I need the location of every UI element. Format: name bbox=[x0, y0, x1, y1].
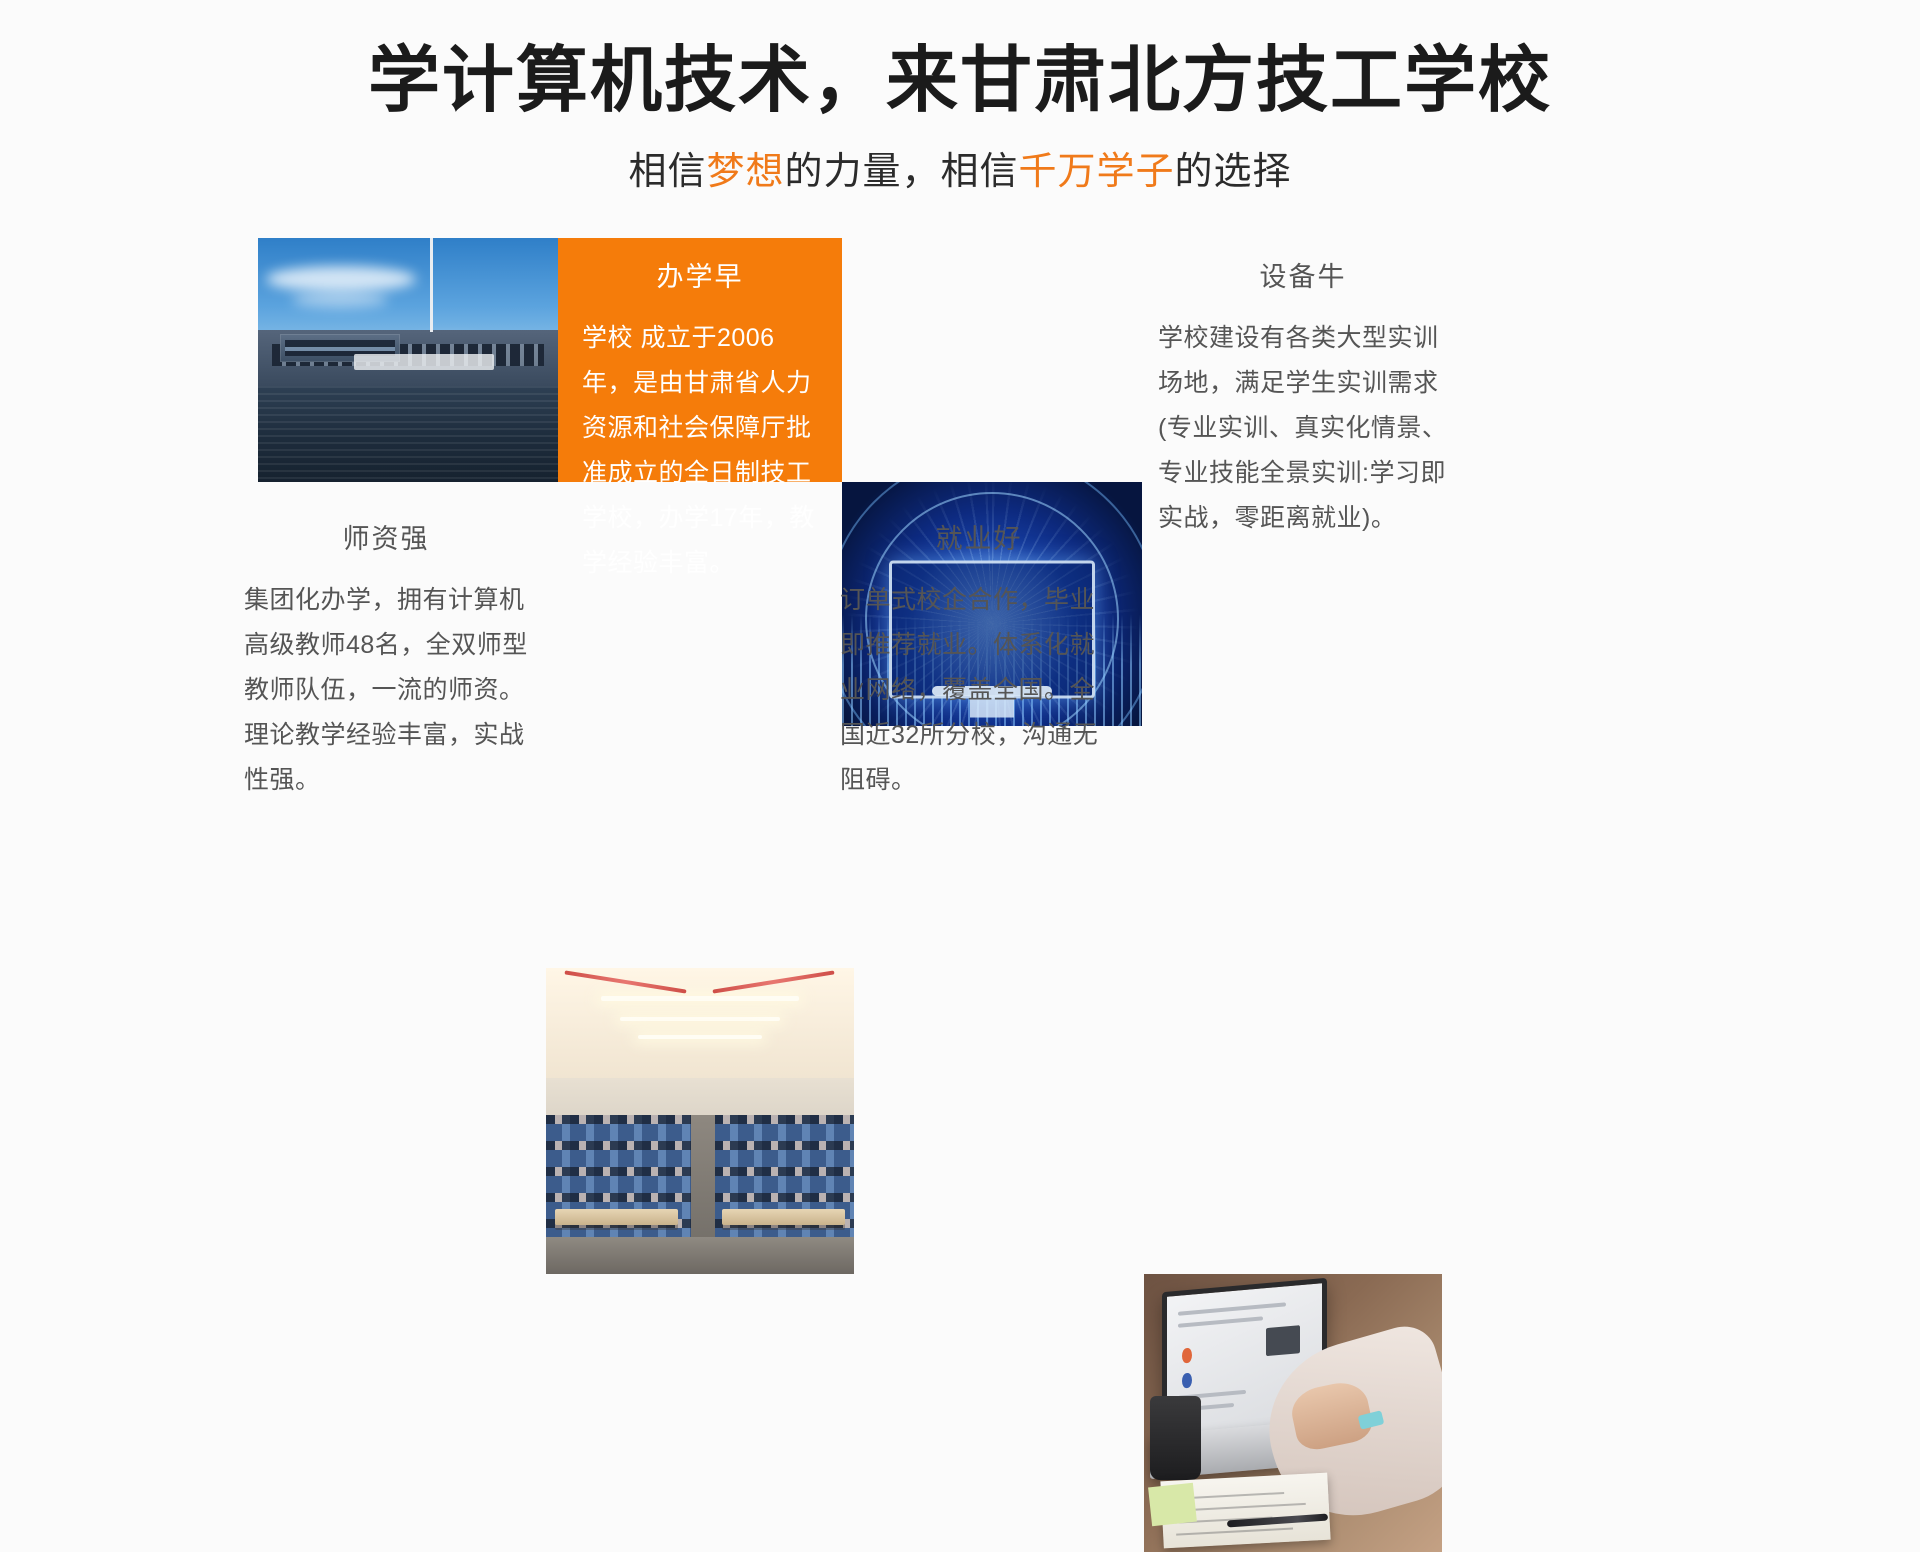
cell-heading-early: 办学早 bbox=[582, 260, 818, 294]
page-title: 学计算机技术，来甘肃北方技工学校 bbox=[0, 38, 1920, 124]
cell-body-early: 学校 成立于2006年，是由甘肃省人力资源和社会保障厅批准成立的全日制技工学校，… bbox=[582, 316, 818, 586]
campus-building-photo bbox=[258, 238, 558, 482]
screen-line bbox=[1178, 1302, 1286, 1315]
classroom-auditorium-photo bbox=[546, 968, 854, 1274]
cell-body-faculty: 集团化办学，拥有计算机高级教师48名，全双师型教师队伍，一流的师资。理论教学经验… bbox=[244, 578, 528, 803]
cloud-shape bbox=[266, 266, 416, 292]
cell-text-faculty: 师资强 集团化办学，拥有计算机高级教师48名，全双师型教师队伍，一流的师资。理论… bbox=[226, 500, 546, 800]
feature-grid: 办学早 学校 成立于2006年，是由甘肃省人力资源和社会保障厅批准成立的全日制技… bbox=[258, 238, 1706, 938]
ceiling-lamp bbox=[638, 1035, 761, 1039]
subtitle-part-1: 相信 bbox=[628, 151, 706, 193]
coffee-mug bbox=[1150, 1396, 1201, 1479]
cell-text-early: 办学早 学校 成立于2006年，是由甘肃省人力资源和社会保障厅批准成立的全日制技… bbox=[558, 238, 842, 482]
reflecting-pool bbox=[258, 386, 558, 482]
subtitle-highlight-students: 千万学子 bbox=[1019, 151, 1175, 193]
paper-line bbox=[1176, 1528, 1293, 1536]
cell-body-equipment: 学校建设有各类大型实训场地，满足学生实训需求(专业实训、真实化情景、专业技能全景… bbox=[1158, 316, 1448, 541]
ceiling-lamp bbox=[620, 1017, 780, 1021]
screen-line bbox=[1178, 1316, 1263, 1327]
cell-heading-employment: 就业好 bbox=[840, 522, 1118, 556]
floor bbox=[546, 1237, 854, 1274]
cloud-shape bbox=[292, 292, 388, 308]
cell-text-employment: 就业好 订单式校企合作，毕业即推荐就业。体系化就业网络，覆盖全国。全国近32所分… bbox=[824, 500, 1132, 800]
student-desk bbox=[722, 1209, 845, 1225]
subtitle-part-5: 的选择 bbox=[1175, 151, 1292, 193]
flagpole bbox=[430, 238, 433, 332]
screen-avatar bbox=[1182, 1348, 1191, 1364]
cell-heading-faculty: 师资强 bbox=[244, 522, 528, 556]
subtitle-part-3: 的力量，相信 bbox=[784, 151, 1018, 193]
screen-avatar bbox=[1182, 1373, 1191, 1389]
cell-heading-equipment: 设备牛 bbox=[1158, 260, 1448, 294]
cell-body-employment: 订单式校企合作，毕业即推荐就业。体系化就业网络，覆盖全国。全国近32所分校，沟通… bbox=[840, 578, 1118, 803]
sticky-note bbox=[1148, 1483, 1197, 1526]
promo-banner: 学计算机技术，来甘肃北方技工学校 相信梦想的力量，相信千万学子的选择 办学早 学… bbox=[0, 0, 1920, 1000]
building-sign bbox=[354, 354, 494, 370]
cell-text-equipment: 设备牛 学校建设有各类大型实训场地，满足学生实训需求(专业实训、真实化情景、专业… bbox=[1142, 238, 1462, 482]
student-desk bbox=[555, 1209, 678, 1225]
ceiling bbox=[546, 968, 854, 1090]
subtitle-highlight-dream: 梦想 bbox=[706, 151, 784, 193]
laptop-typing-photo bbox=[1144, 1274, 1442, 1552]
screen-thumbnail bbox=[1266, 1326, 1300, 1357]
page-subtitle: 相信梦想的力量，相信千万学子的选择 bbox=[0, 148, 1920, 196]
